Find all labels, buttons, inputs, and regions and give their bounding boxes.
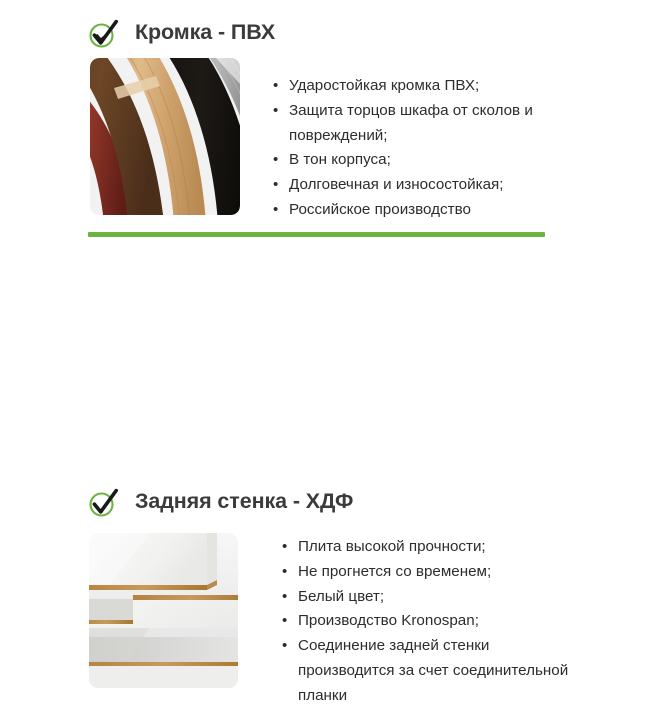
section-heading-back: Задняя стенка - ХДФ xyxy=(88,486,353,518)
section-heading-edge: Кромка - ПВХ xyxy=(88,17,275,49)
green-circle-check-icon xyxy=(88,17,118,49)
list-item: Соединение задней стенки производится за… xyxy=(281,634,571,708)
product-features-page: Кромка - ПВХ xyxy=(0,0,652,500)
list-item: Российское производство xyxy=(272,198,572,223)
feature-list-back: Плита высокой прочности; Не прогнется со… xyxy=(281,535,571,709)
list-item: Защита торцов шкафа от сколов и поврежде… xyxy=(272,99,572,149)
list-item: В тон корпуса; xyxy=(272,148,572,173)
list-item: Плита высокой прочности; xyxy=(281,535,571,560)
section-divider xyxy=(88,232,545,237)
list-item: Не прогнется со временем; xyxy=(281,560,571,585)
list-item: Ударостойкая кромка ПВХ; xyxy=(272,74,572,99)
feature-list-edge: Ударостойкая кромка ПВХ; Защита торцов ш… xyxy=(272,74,572,223)
list-item: Долговечная и износостойкая; xyxy=(272,173,572,198)
section-title-edge: Кромка - ПВХ xyxy=(135,22,275,44)
section-title-back: Задняя стенка - ХДФ xyxy=(135,491,353,513)
white-hdf-boards-stack-photo xyxy=(89,533,238,688)
list-item: Белый цвет; xyxy=(281,585,571,610)
green-circle-check-icon xyxy=(88,486,118,518)
list-item: Производство Kronospan; xyxy=(281,609,571,634)
pvc-edge-banding-rolls-photo xyxy=(90,58,240,215)
